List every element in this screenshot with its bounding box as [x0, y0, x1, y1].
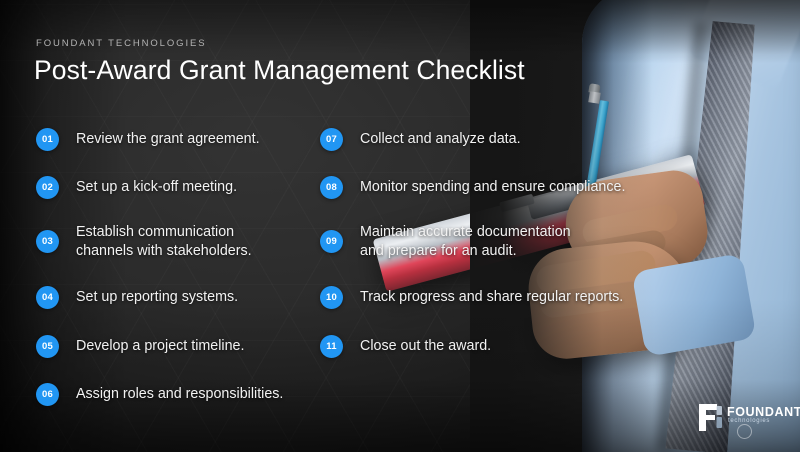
list-item-number-badge: 01 — [36, 128, 59, 151]
list-item-label: Review the grant agreement. — [76, 130, 260, 149]
page-title: Post-Award Grant Management Checklist — [34, 55, 525, 86]
brand-eyebrow: FOUNDANT TECHNOLOGIES — [36, 38, 206, 49]
list-item: 01 Review the grant agreement. — [36, 128, 316, 151]
list-item-label: Track progress and share regular reports… — [360, 288, 623, 307]
list-item-number-badge: 09 — [320, 230, 343, 253]
foundant-f-mark-icon — [697, 402, 723, 432]
list-item: 08 Monitor spending and ensure complianc… — [320, 176, 650, 199]
list-item: 05 Develop a project timeline. — [36, 335, 316, 358]
slide-content: FOUNDANT TECHNOLOGIES Post-Award Grant M… — [0, 0, 800, 452]
list-item: 03 Establish communication channels with… — [36, 230, 316, 253]
logo-subtitle: technologies — [728, 418, 770, 424]
list-item-label: Collect and analyze data. — [360, 130, 521, 149]
list-item-number-badge: 11 — [320, 335, 343, 358]
list-item-number-badge: 03 — [36, 230, 59, 253]
list-item-label: Assign roles and responsibilities. — [76, 385, 283, 404]
list-item-number-badge: 08 — [320, 176, 343, 199]
list-item: 07 Collect and analyze data. — [320, 128, 650, 151]
list-item-label: Develop a project timeline. — [76, 337, 244, 356]
checklist-slide: FOUNDANT TECHNOLOGIES Post-Award Grant M… — [0, 0, 800, 452]
list-item-number-badge: 10 — [320, 286, 343, 309]
list-item-label: Set up reporting systems. — [76, 288, 238, 307]
list-item: 10 Track progress and share regular repo… — [320, 286, 650, 309]
list-item: 04 Set up reporting systems. — [36, 286, 316, 309]
list-item-number-badge: 06 — [36, 383, 59, 406]
list-item: 02 Set up a kick-off meeting. — [36, 176, 316, 199]
list-item-number-badge: 07 — [320, 128, 343, 151]
logo-wordmark: FOUNDANT — [727, 405, 800, 419]
list-item-label: Monitor spending and ensure compliance. — [360, 178, 625, 197]
list-item-number-badge: 02 — [36, 176, 59, 199]
foundant-logo: FOUNDANT technologies — [697, 402, 789, 436]
list-item-label: Maintain accurate documentation and prep… — [360, 223, 571, 261]
list-item: 06 Assign roles and responsibilities. — [36, 383, 316, 406]
list-item-number-badge: 05 — [36, 335, 59, 358]
logo-seal-icon — [737, 424, 752, 439]
list-item-number-badge: 04 — [36, 286, 59, 309]
list-item-label: Set up a kick-off meeting. — [76, 178, 237, 197]
list-item: 11 Close out the award. — [320, 335, 650, 358]
list-item: 09 Maintain accurate documentation and p… — [320, 230, 650, 253]
list-item-label: Close out the award. — [360, 337, 491, 356]
list-item-label: Establish communication channels with st… — [76, 223, 252, 261]
